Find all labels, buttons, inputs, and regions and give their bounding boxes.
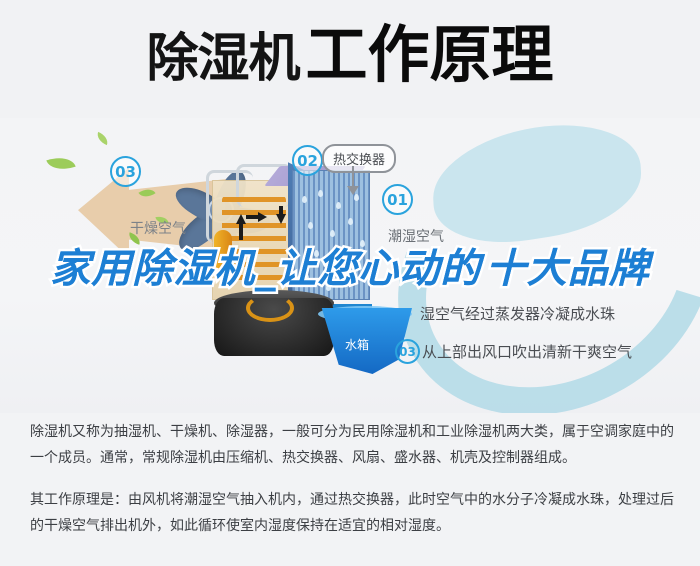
leaf-icon xyxy=(95,132,110,145)
leaf-icon xyxy=(46,152,75,174)
title-part-2: 工作原理 xyxy=(306,18,554,91)
badge-step-02: 02 xyxy=(292,145,323,176)
step-02-description: 湿空气经过蒸发器冷凝成水珠 xyxy=(420,303,615,324)
callout-stem xyxy=(352,166,354,188)
body-text: 除湿机又称为抽湿机、干燥机、除湿器，一般可分为民用除湿机和工业除湿机两大类，属于… xyxy=(30,418,676,554)
flow-arrow-up-stem xyxy=(239,224,243,240)
dehumidifier-diagram: 水箱 03 02 01 热交换器 干燥空气 潮湿空气 xyxy=(0,118,700,413)
callout-pointer-icon xyxy=(347,186,359,195)
flow-arrow-up-icon xyxy=(236,214,246,224)
heat-exchanger-callout: 热交换器 xyxy=(322,144,396,173)
step-03-description: 从上部出风口吹出清新干爽空气 xyxy=(422,341,632,362)
body-paragraph-1: 除湿机又称为抽湿机、干燥机、除湿器，一般可分为民用除湿机和工业除湿机两大类，属于… xyxy=(30,418,676,470)
refrigerant-tank-icon xyxy=(214,230,232,272)
water-tank-label: 水箱 xyxy=(345,336,369,353)
badge-step-01: 01 xyxy=(382,184,413,215)
compressor-copper-ring-icon xyxy=(246,294,294,322)
flow-arrow-right-stem xyxy=(246,215,260,219)
flow-arrow-down-stem xyxy=(279,206,283,216)
badge-step-03: 03 xyxy=(110,156,141,187)
dry-air-label: 干燥空气 xyxy=(130,218,186,238)
title-part-1: 除湿机 xyxy=(146,29,299,89)
page-title: 除湿机工作原理 xyxy=(0,24,700,86)
step-03-badge: 03 xyxy=(395,339,420,364)
infographic-page: 除湿机工作原理 xyxy=(0,0,700,566)
condensation-drops-icon xyxy=(296,188,368,298)
title-band: 除湿机工作原理 xyxy=(0,0,700,120)
body-paragraph-2: 其工作原理是：由风机将潮湿空气抽入机内，通过热交换器，此时空气中的水分子冷凝成水… xyxy=(30,486,676,538)
moist-air-label: 潮湿空气 xyxy=(388,226,444,246)
